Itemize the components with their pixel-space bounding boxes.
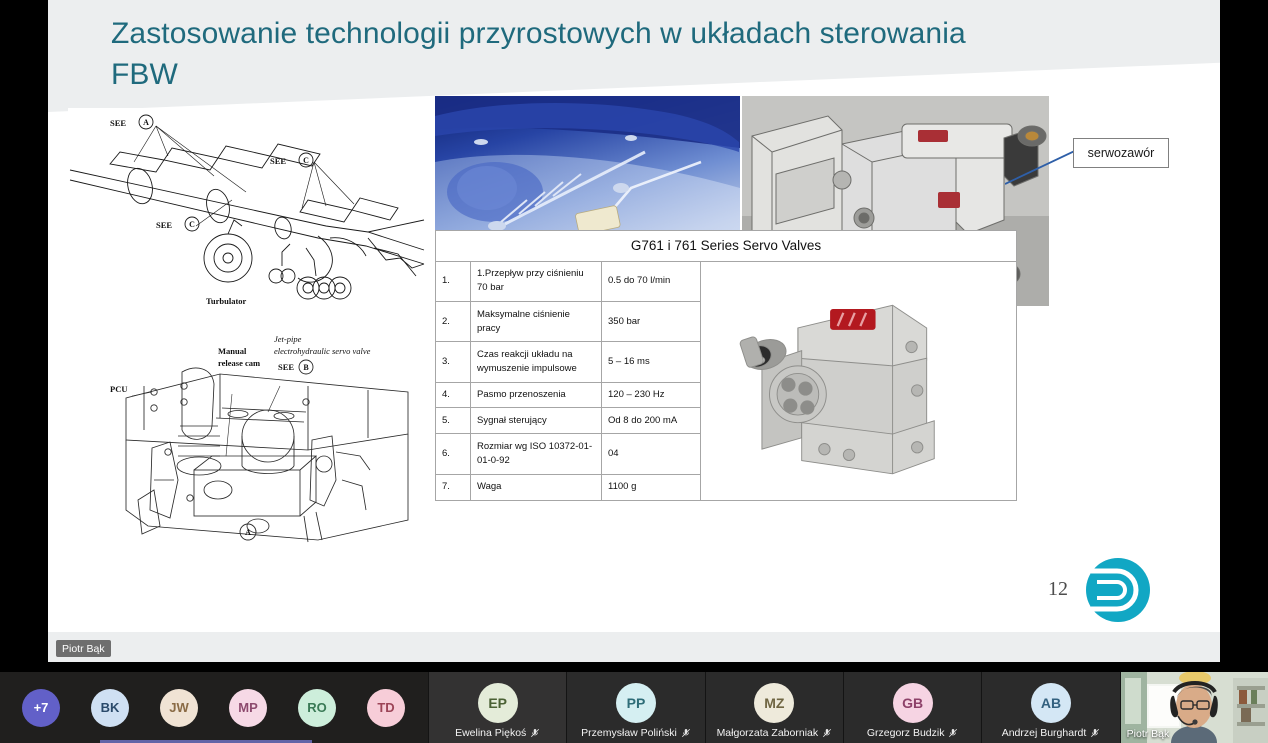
avatar-bk[interactable]: BK [91, 689, 129, 727]
spec-table: G761 i 761 Series Servo Valves 1. 1.Prze… [435, 230, 1017, 501]
row-value: 5 – 16 ms [602, 342, 701, 382]
avatar: AB [1031, 683, 1071, 723]
svg-text:release cam: release cam [218, 358, 260, 368]
participant-name-row: Przemysław Poliński [567, 727, 704, 739]
presentation-slide[interactable]: Zastosowanie technologii przyrostowych w… [48, 0, 1220, 662]
row-label: 1.Przepływ przy ciśnieniu 70 bar [471, 261, 602, 301]
page-title: Zastosowanie technologii przyrostowych w… [111, 14, 1011, 95]
pcu-servo-valve-diagram: PCU Manual release cam Jet-pipe electroh… [108, 330, 438, 560]
callout-leader-line [1005, 140, 1081, 186]
svg-text:SEE: SEE [278, 362, 294, 372]
row-number: 6. [436, 434, 471, 474]
shared-content-area[interactable]: Zastosowanie technologii przyrostowych w… [0, 0, 1268, 672]
row-number: 2. [436, 301, 471, 341]
svg-text:C: C [303, 156, 309, 165]
row-label: Czas reakcji układu na wymuszenie impuls… [471, 342, 602, 382]
avatar-initials: BK [101, 700, 120, 715]
svg-text:Turbulator: Turbulator [206, 296, 247, 306]
table-product-image-cell [701, 261, 1017, 500]
participant-name-row: Ewelina Piękoś [429, 727, 566, 739]
participant-name-row: Grzegorz Budzik [844, 727, 981, 739]
participant-video-tile-piotr-bak[interactable]: Piotr Bąk [1120, 672, 1268, 743]
avatar: MZ [754, 683, 794, 723]
slide-number: 12 [1048, 578, 1068, 601]
table-row: 1. 1.Przepływ przy ciśnieniu 70 bar 0.5 … [436, 261, 1017, 301]
avatar-initials: MZ [764, 695, 784, 711]
svg-text:Manual: Manual [218, 346, 247, 356]
participant-tile-mz[interactable]: MZ Małgorzata Zaborniak [705, 672, 843, 743]
mic-muted-icon [1090, 728, 1100, 738]
avatar: PP [616, 683, 656, 723]
avatar: GB [893, 683, 933, 723]
callout-label-serwozawor: serwozawór [1073, 138, 1169, 168]
video-participant-name: Piotr Bąk [1127, 728, 1170, 740]
teams-meeting-window: Zastosowanie technologii przyrostowych w… [0, 0, 1268, 743]
avatar-initials: EP [488, 695, 507, 711]
presenter-name-tag: Piotr Bąk [56, 640, 111, 657]
avatar-initials: RO [307, 700, 327, 715]
participant-name: Przemysław Poliński [581, 727, 677, 739]
participant-name-row: Andrzej Burghardt [982, 727, 1119, 739]
g761-servo-valve-product-photo [707, 267, 1010, 495]
avatar-initials: PP [627, 695, 646, 711]
avatar-initials: MP [238, 700, 258, 715]
row-value: 04 [602, 434, 701, 474]
avatar-jw[interactable]: JW [160, 689, 198, 727]
participant-name-row: Małgorzata Zaborniak [706, 727, 843, 739]
overflow-count-label: +7 [34, 700, 49, 715]
row-value: 0.5 do 70 l/min [602, 261, 701, 301]
participant-tile-gb[interactable]: GB Grzegorz Budzik [843, 672, 981, 743]
participant-tile-ep[interactable]: EP Ewelina Piękoś [428, 672, 566, 743]
participant-tile-ab[interactable]: AB Andrzej Burghardt [981, 672, 1119, 743]
slide-footer-band [48, 632, 1220, 662]
avatar-initials: TD [377, 700, 394, 715]
mic-muted-icon [681, 728, 691, 738]
svg-text:SEE: SEE [156, 220, 172, 230]
row-label: Waga [471, 474, 602, 500]
avatar-mp[interactable]: MP [229, 689, 267, 727]
row-number: 3. [436, 342, 471, 382]
svg-text:PCU: PCU [110, 384, 127, 394]
table-header-row: G761 i 761 Series Servo Valves [436, 231, 1017, 262]
row-number: 1. [436, 261, 471, 301]
avatar-initials: GB [902, 695, 923, 711]
svg-text:A: A [245, 528, 251, 537]
overflow-participants-badge[interactable]: +7 [22, 689, 60, 727]
svg-text:A: A [143, 118, 149, 127]
row-number: 7. [436, 474, 471, 500]
organization-logo [1083, 555, 1153, 625]
participant-name: Andrzej Burghardt [1002, 727, 1087, 739]
participant-name: Grzegorz Budzik [867, 727, 945, 739]
avatar-ro[interactable]: RO [298, 689, 336, 727]
avatar-initials: AB [1041, 695, 1061, 711]
row-label: Pasmo przenoszenia [471, 382, 602, 408]
participant-filmstrip[interactable]: +7 BK JW MP RO TD EP Ewelina Piękoś [0, 672, 1268, 743]
row-value: Od 8 do 200 mA [602, 408, 701, 434]
row-number: 5. [436, 408, 471, 434]
participant-name: Małgorzata Zaborniak [717, 727, 819, 739]
presenter-name-text: Piotr Bąk [62, 643, 105, 655]
mic-muted-icon [948, 728, 958, 738]
table-title: G761 i 761 Series Servo Valves [436, 231, 1017, 262]
svg-text:electrohydraulic servo valve: electrohydraulic servo valve [274, 346, 371, 356]
svg-text:B: B [303, 363, 309, 372]
row-label: Rozmiar wg ISO 10372-01-01-0-92 [471, 434, 602, 474]
svg-text:Jet-pipe: Jet-pipe [274, 334, 302, 344]
row-value: 120 – 230 Hz [602, 382, 701, 408]
row-value: 350 bar [602, 301, 701, 341]
row-label: Maksymalne ciśnienie pracy [471, 301, 602, 341]
mic-muted-icon [530, 728, 540, 738]
participant-name: Ewelina Piękoś [455, 727, 526, 739]
svg-text:C: C [189, 220, 195, 229]
svg-text:SEE: SEE [270, 156, 286, 166]
aircraft-wing-actuator-diagram: SEE SEE SEE ACC Turbulator [68, 108, 428, 308]
avatar-td[interactable]: TD [367, 689, 405, 727]
mic-muted-icon [822, 728, 832, 738]
callout-text: serwozawór [1088, 146, 1155, 160]
row-value: 1100 g [602, 474, 701, 500]
row-label: Sygnał sterujący [471, 408, 602, 434]
participant-roster[interactable]: +7 BK JW MP RO TD [0, 672, 428, 743]
row-number: 4. [436, 382, 471, 408]
avatar-initials: JW [169, 700, 189, 715]
participant-tile-pp[interactable]: PP Przemysław Poliński [566, 672, 704, 743]
avatar: EP [478, 683, 518, 723]
svg-text:SEE: SEE [110, 118, 126, 128]
